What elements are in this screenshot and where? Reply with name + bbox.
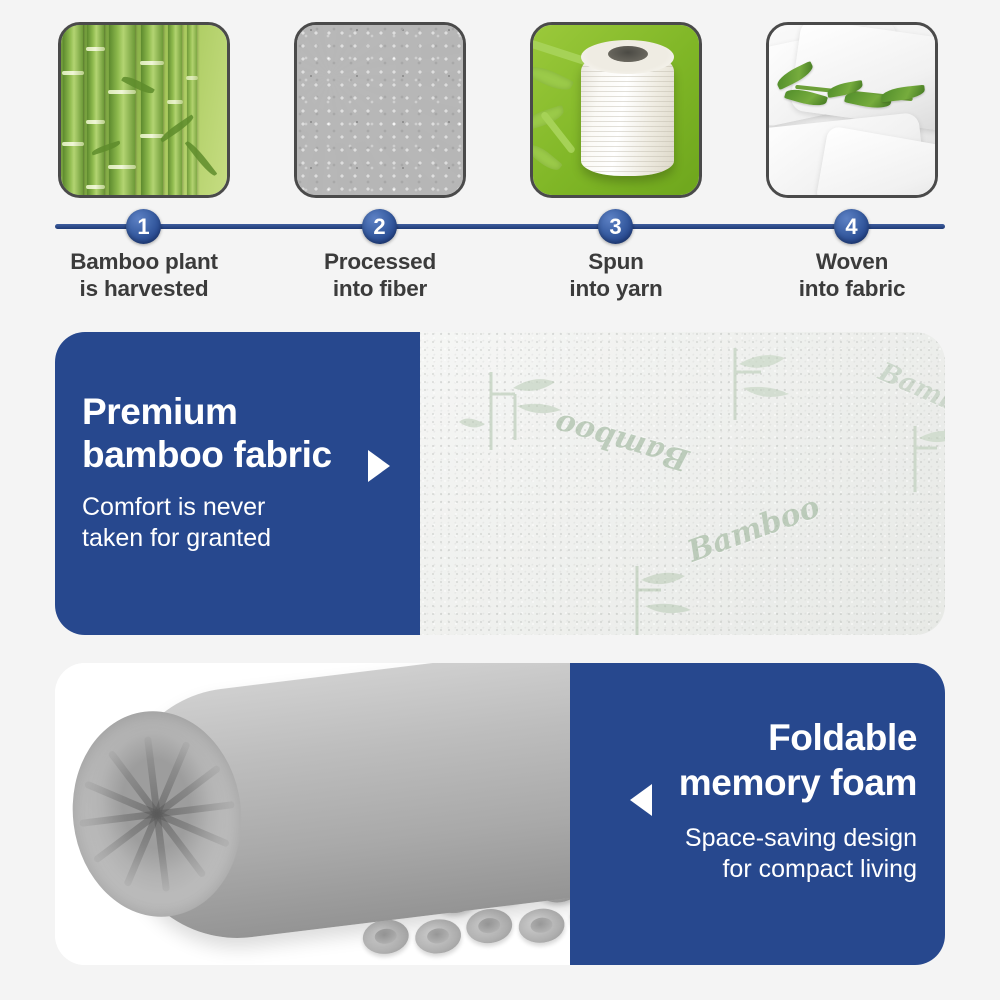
premium-bamboo-fabric-panel: Bamboo Bamboo Bamboo [55, 332, 945, 635]
step-label-2: Processed into fiber [260, 248, 500, 302]
step-marker-3: 3 [598, 209, 633, 244]
process-timeline: 1 2 3 4 Bamboo plant is harvested Proces… [0, 0, 1000, 110]
foam-blue-block: Foldable memory foam Space-saving design… [570, 663, 945, 965]
fabric-heading: Premium bamboo fabric [82, 390, 402, 476]
foam-subheading: Space-saving design for compact living [587, 823, 917, 885]
fabric-bamboo-sprig-1 [455, 354, 585, 474]
step-label-3-line1: Spun [496, 248, 736, 275]
step-label-4-line1: Woven [732, 248, 972, 275]
foam-heading-line2: memory foam [679, 762, 917, 803]
step-label-1-line1: Bamboo plant [24, 248, 264, 275]
step-marker-2: 2 [362, 209, 397, 244]
step-label-3: Spun into yarn [496, 248, 736, 302]
step-label-2-line2: into fiber [260, 275, 500, 302]
fabric-heading-line1: Premium [82, 391, 238, 432]
foam-sub-line1: Space-saving design [685, 824, 917, 852]
fabric-bamboo-sprig-4 [885, 422, 945, 512]
step-label-4-line2: into fabric [732, 275, 972, 302]
foldable-memory-foam-panel: Foldable memory foam Space-saving design… [55, 663, 945, 965]
fabric-bamboo-sprig-2 [695, 342, 815, 442]
step-label-2-line1: Processed [260, 248, 500, 275]
fabric-blue-block: Premium bamboo fabric Comfort is never t… [55, 332, 420, 635]
step-marker-1: 1 [126, 209, 161, 244]
fabric-subheading: Comfort is never taken for granted [82, 492, 402, 554]
infographic-canvas: 1 2 3 4 Bamboo plant is harvested Proces… [0, 0, 1000, 1000]
fabric-bamboo-sprig-3 [603, 562, 733, 635]
step-marker-4: 4 [834, 209, 869, 244]
fabric-heading-line2: bamboo fabric [82, 434, 332, 475]
foam-heading-line1: Foldable [768, 717, 917, 758]
fabric-sub-line2: taken for granted [82, 524, 271, 552]
step-label-3-line2: into yarn [496, 275, 736, 302]
triangle-right-icon [368, 450, 390, 482]
triangle-left-icon [630, 784, 652, 816]
step-label-4: Woven into fabric [732, 248, 972, 302]
fabric-sub-line1: Comfort is never [82, 493, 265, 521]
foam-sub-line2: for compact living [722, 855, 917, 883]
step-label-1-line2: is harvested [24, 275, 264, 302]
memory-foam-photo [55, 663, 625, 965]
timeline-line [55, 224, 945, 229]
step-label-1: Bamboo plant is harvested [24, 248, 264, 302]
